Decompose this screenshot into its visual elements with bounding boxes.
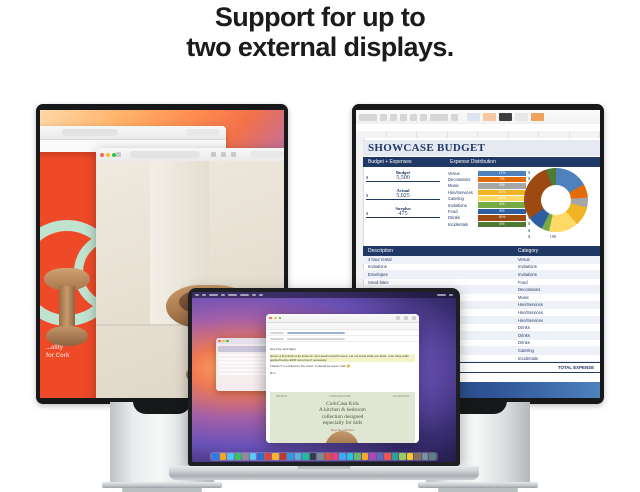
cell-description: Small bites — [363, 280, 518, 285]
poster-caption-line-1: ...ality — [46, 344, 69, 352]
zoom-icon[interactable] — [226, 340, 229, 343]
macbook-air: Hey Amy and Nigel, Here's a first draft … — [188, 288, 460, 480]
distribution-pct: 8% — [478, 209, 526, 214]
table-row[interactable]: Small bitesFood — [363, 279, 600, 287]
add-tab-icon[interactable] — [221, 152, 226, 157]
dock-icon[interactable] — [347, 453, 353, 460]
to-recipients[interactable] — [287, 332, 345, 334]
number-format-selector[interactable] — [430, 114, 448, 121]
distribution-pct: 5% — [478, 222, 526, 227]
total-expense-label: TOTAL EXPENSE — [558, 365, 594, 370]
style-swatch[interactable] — [499, 113, 512, 121]
cell-category: Invitations — [518, 264, 600, 269]
dock-icon[interactable] — [302, 453, 308, 460]
dock-icon[interactable] — [369, 453, 375, 460]
poster-heading-line-3: collection designed — [322, 414, 364, 420]
poster-bowl-illustration — [44, 268, 90, 354]
kpi-group: Budget $ 5,500 Actual $ 5,025 — [366, 170, 440, 224]
expense-donut-chart — [524, 168, 588, 232]
cell-description: Envelopes — [363, 272, 518, 277]
dock-icon[interactable] — [332, 453, 338, 460]
minimize-icon[interactable] — [274, 317, 277, 320]
menu-item[interactable] — [221, 294, 225, 296]
dock-icon[interactable] — [339, 453, 345, 460]
mail-paragraph-1: Here's a first draft of an invite for ne… — [270, 354, 415, 362]
mail-greeting: Hey Amy and Nigel, — [270, 347, 415, 351]
share-icon[interactable] — [211, 152, 216, 157]
format-icon[interactable] — [412, 316, 416, 320]
distribution-bar: 17% — [478, 171, 526, 176]
distribution-row: Hire/Services10% — [448, 189, 526, 195]
to-label — [270, 332, 284, 334]
menubar-clock[interactable] — [449, 294, 453, 296]
kpi-value-wrap: $ 5,025 — [366, 193, 440, 200]
dock-icon[interactable] — [407, 453, 413, 460]
menu-item[interactable] — [252, 294, 256, 296]
table-row[interactable]: InvitationsInvitations — [363, 264, 600, 272]
kpi-value: 5,500 — [396, 175, 410, 181]
cell-category: Catering — [518, 348, 600, 353]
distribution-bar: 5% — [478, 183, 526, 188]
distribution-category: Invitations — [448, 203, 478, 208]
subject-value[interactable] — [287, 338, 345, 340]
mail-subject-field[interactable] — [266, 336, 419, 342]
dock-icon[interactable] — [414, 453, 420, 460]
merge-icon[interactable] — [451, 114, 458, 121]
close-icon[interactable] — [269, 317, 272, 320]
mail-attachment-poster: ISSUE 01 CORKCASA KIDS COLLECTION CorkCa… — [270, 392, 415, 444]
cell-category: Music — [518, 295, 600, 300]
currency-symbol: $ — [366, 175, 368, 180]
poster-bowl-image — [325, 431, 359, 443]
distribution-category: Incidentals — [448, 222, 478, 227]
mail-titlebar[interactable] — [266, 314, 419, 323]
distribution-bar: 8% — [478, 209, 526, 214]
macbook-lid: Hey Amy and Nigel, Here's a first draft … — [188, 288, 460, 466]
distribution-category: Music — [448, 183, 478, 188]
headline-line-2: two external displays. — [0, 32, 640, 62]
dock-icon[interactable] — [295, 453, 301, 460]
dock-icon[interactable] — [310, 453, 316, 460]
sheet-title: SHOWCASE BUDGET — [368, 142, 485, 154]
poster-meta-left: ISSUE 01 — [276, 395, 287, 398]
distribution-bar: 5% — [478, 222, 526, 227]
dock-icon[interactable] — [399, 453, 405, 460]
column-description: Description — [363, 248, 518, 254]
distribution-bar: 7% — [478, 177, 526, 182]
distribution-row: Music5% — [448, 183, 526, 189]
dock-icon[interactable] — [235, 453, 241, 460]
spreadsheet-ribbon[interactable] — [356, 110, 600, 125]
menu-item[interactable] — [209, 294, 218, 296]
cell-description: Invitations — [363, 264, 518, 269]
distribution-bar: 10% — [478, 190, 526, 195]
attach-icon[interactable] — [404, 316, 408, 320]
dock-icon[interactable] — [280, 453, 286, 460]
right-display-foot-base — [438, 488, 518, 492]
kpi-value-wrap: $ 5,500 — [366, 175, 440, 182]
background-window-titlebar[interactable] — [40, 126, 226, 140]
kpi-value: 475 — [399, 211, 408, 217]
distribution-bar: 4% — [478, 202, 526, 207]
distribution-row: Catering15% — [448, 196, 526, 202]
promo-stage: Support for up to two external displays.… — [0, 0, 640, 480]
distribution-pct: 4% — [478, 202, 526, 207]
style-swatch[interactable] — [483, 113, 496, 121]
mail-compose-window[interactable]: Hey Amy and Nigel, Here's a first draft … — [266, 314, 419, 443]
dock-icon[interactable] — [317, 453, 323, 460]
browser-titlebar[interactable] — [96, 148, 284, 162]
cell-category: Decorations — [518, 287, 600, 292]
dock-icon[interactable] — [429, 453, 435, 460]
cell-category: Venue — [518, 257, 600, 262]
dock-icon[interactable] — [377, 453, 383, 460]
distribution-category: Catering — [448, 196, 478, 201]
dock-icon[interactable] — [354, 453, 360, 460]
sheet-title-banner: SHOWCASE BUDGET — [363, 140, 600, 156]
cell-category: Food — [518, 280, 600, 285]
macos-dock[interactable] — [210, 452, 437, 461]
poster-heading-line-1: CorkCasa Kids — [326, 401, 359, 407]
distribution-row: Drinks30% — [448, 215, 526, 221]
zoom-icon[interactable] — [279, 317, 282, 320]
mail-paragraph-2: Thanks! I'm excited for the event. It sh… — [270, 364, 415, 368]
sheet-section-headers: Budget + Expenses Expense Distribution — [363, 157, 600, 167]
tabs-icon[interactable] — [231, 152, 236, 157]
distribution-category: Food — [448, 209, 478, 214]
close-icon[interactable] — [218, 340, 221, 343]
camera-notch — [303, 288, 345, 292]
poster-caption: ...ality for Cork — [46, 344, 69, 360]
dock-icon[interactable] — [422, 453, 428, 460]
table-row[interactable]: 4 hour rentalVenue — [363, 256, 600, 264]
distribution-category: Hire/Services — [448, 190, 478, 195]
fill-color-icon[interactable] — [410, 114, 417, 121]
distribution-category: Venue — [448, 171, 478, 176]
column-category: Category — [518, 248, 600, 254]
kpi-actual: Actual $ 5,025 — [366, 188, 440, 200]
poster-heading-line-2: A kitchen & bedroom — [319, 407, 366, 413]
menubar-status-icons[interactable] — [437, 294, 446, 296]
distribution-row: Venue17% — [448, 170, 526, 176]
distribution-row: Invitations4% — [448, 202, 526, 208]
macbook-screen: Hey Amy and Nigel, Here's a first draft … — [192, 292, 456, 462]
distribution-row: Decorations7% — [448, 176, 526, 182]
menu-item[interactable] — [259, 294, 263, 296]
page-title: Support for up to two external displays. — [0, 0, 640, 62]
close-icon[interactable] — [100, 153, 104, 157]
menu-item[interactable] — [228, 294, 237, 296]
distribution-row: Incidentals5% — [448, 221, 526, 227]
menu-item[interactable] — [202, 294, 206, 296]
search-field[interactable] — [186, 129, 220, 136]
align-icon[interactable] — [420, 114, 427, 121]
style-swatch[interactable] — [531, 113, 544, 121]
expense-table-header: Description Category — [363, 246, 600, 256]
expense-amount: $190 — [528, 234, 556, 240]
address-bar[interactable] — [130, 151, 200, 158]
kpi-budget: Budget $ 5,500 — [366, 170, 440, 182]
cell-description: 4 hour rental — [363, 257, 518, 262]
cell-category: Drinks — [518, 340, 600, 345]
kpi-value: 5,025 — [396, 193, 410, 199]
kpi-value-wrap: $ 475 — [366, 211, 440, 218]
dock-icon[interactable] — [287, 453, 293, 460]
cell-category: Hire/Services — [518, 318, 600, 323]
cell-category: Invitations — [518, 272, 600, 277]
apple-menu-icon[interactable] — [195, 294, 199, 296]
table-row[interactable]: EnvelopesInvitations — [363, 271, 600, 279]
mail-format-bar[interactable] — [266, 323, 419, 330]
poster-heading: CorkCasa Kids A kitchen & bedroom collec… — [276, 401, 409, 427]
dock-icon[interactable] — [362, 453, 368, 460]
dock-icon[interactable] — [265, 453, 271, 460]
minimize-icon[interactable] — [106, 153, 110, 157]
distribution-section-label: Expense Distribution — [446, 159, 496, 165]
poster-meta: ISSUE 01 CORKCASA KIDS COLLECTION — [270, 392, 415, 398]
font-selector[interactable] — [359, 114, 377, 121]
distribution-pct: 17% — [478, 171, 526, 176]
distribution-category: Drinks — [448, 215, 478, 220]
distribution-bar: 30% — [478, 215, 526, 220]
mail-body[interactable]: Hey Amy and Nigel, Here's a first draft … — [266, 344, 419, 443]
distribution-pct: 30% — [478, 215, 526, 220]
dock-icon[interactable] — [384, 453, 390, 460]
budget-section-label: Budget + Expenses — [363, 159, 446, 165]
expense-distribution-list: Venue17%Decorations7%Music5%Hire/Service… — [448, 170, 526, 228]
dock-icon[interactable] — [212, 453, 218, 460]
cell-category: Incidentals — [518, 356, 600, 361]
macos-menubar[interactable] — [192, 292, 456, 298]
dock-icon[interactable] — [257, 453, 263, 460]
bold-icon[interactable] — [380, 114, 387, 121]
subject-label — [270, 338, 284, 340]
distribution-pct: 15% — [478, 196, 526, 201]
cell-category: Drinks — [518, 325, 600, 330]
currency-symbol: $ — [366, 211, 368, 216]
poster-meta-right: COLLECTION — [392, 395, 409, 398]
browser-search-field[interactable] — [250, 151, 284, 158]
macbook-base — [169, 466, 479, 480]
mail-signature: M-C — [270, 371, 415, 375]
cell-category: Hire/Services — [518, 302, 600, 307]
poster-meta-center: CORKCASA KIDS — [329, 395, 350, 398]
style-swatch[interactable] — [467, 113, 480, 121]
address-bar[interactable] — [62, 129, 118, 136]
headline-line-1: Support for up to — [0, 2, 640, 32]
dock-icon[interactable] — [242, 453, 248, 460]
distribution-pct: 10% — [478, 190, 526, 195]
poster-heading-line-4: especially for kids — [323, 420, 363, 426]
dock-icon[interactable] — [227, 453, 233, 460]
send-icon[interactable] — [396, 316, 400, 320]
distribution-pct: 5% — [478, 183, 526, 188]
kpi-surplus: Surplus $ 475 — [366, 206, 440, 218]
poster-caption-line-2: for Cork — [46, 352, 69, 360]
dock-icon[interactable] — [220, 453, 226, 460]
distribution-bar: 15% — [478, 196, 526, 201]
cell-category: Drinks — [518, 333, 600, 338]
distribution-row: Food8% — [448, 208, 526, 214]
italic-icon[interactable] — [390, 114, 397, 121]
dock-icon[interactable] — [250, 453, 256, 460]
sidebar-toggle-icon[interactable] — [116, 152, 121, 157]
dock-icon[interactable] — [392, 453, 398, 460]
dock-icon[interactable] — [325, 453, 331, 460]
cell-category: Hire/Services — [518, 310, 600, 315]
distribution-category: Decorations — [448, 177, 478, 182]
minimize-icon[interactable] — [222, 340, 225, 343]
distribution-pct: 7% — [478, 177, 526, 182]
left-display-foot-base — [122, 488, 202, 492]
currency-symbol: $ — [366, 193, 368, 198]
dock-icon[interactable] — [272, 453, 278, 460]
menu-item[interactable] — [240, 294, 249, 296]
style-swatch[interactable] — [515, 113, 528, 121]
underline-icon[interactable] — [400, 114, 407, 121]
